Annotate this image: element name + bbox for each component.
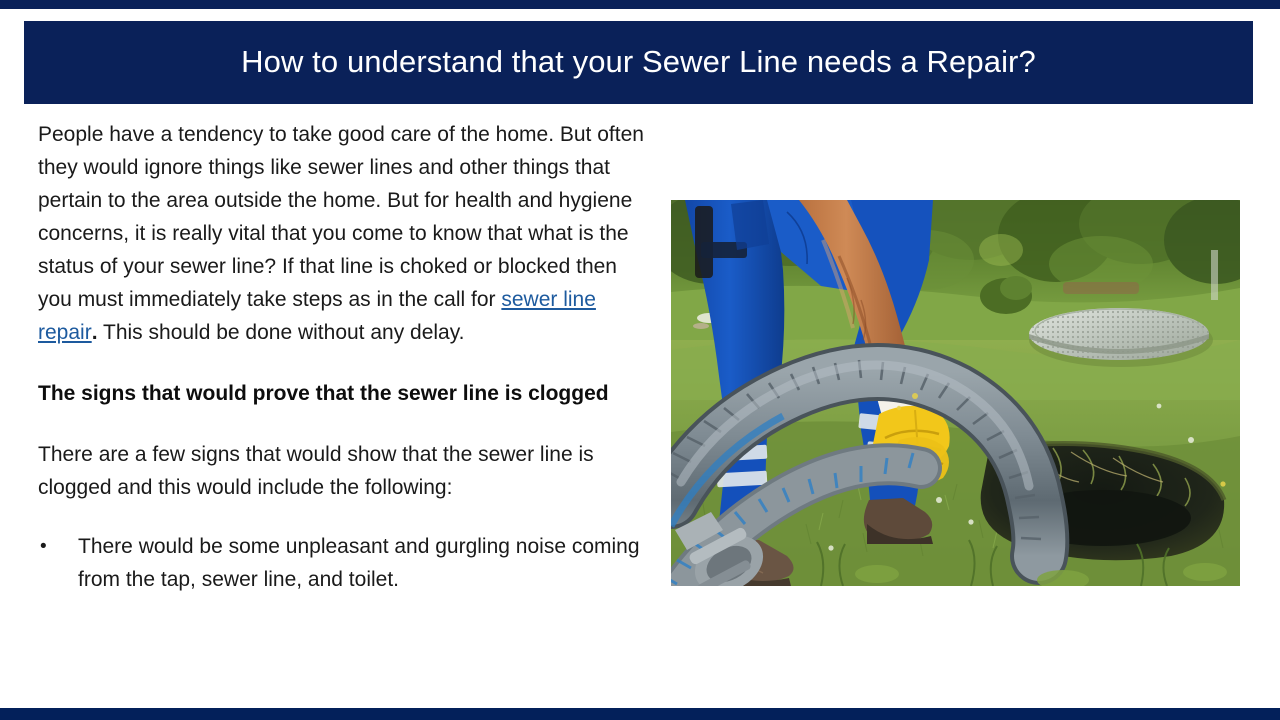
slide-canvas: How to understand that your Sewer Line n…: [0, 0, 1280, 720]
paragraph-intro-text: People have a tendency to take good care…: [38, 123, 644, 311]
paragraph-intro: People have a tendency to take good care…: [38, 118, 652, 349]
bottom-accent-bar: [0, 708, 1280, 720]
title-banner: How to understand that your Sewer Line n…: [24, 21, 1253, 104]
list-item-label: There would be some unpleasant and gurgl…: [78, 530, 652, 596]
list-item: • There would be some unpleasant and gur…: [38, 530, 652, 596]
page-title: How to understand that your Sewer Line n…: [241, 45, 1036, 79]
bullet-marker-icon: •: [38, 530, 78, 563]
spacer-after-intro: [38, 349, 652, 377]
section-heading-signs: The signs that would prove that the sewe…: [38, 377, 652, 410]
paragraph-intro-tail: This should be done without any delay.: [98, 321, 465, 344]
spacer-after-heading: [38, 410, 652, 438]
body-content-column: People have a tendency to take good care…: [38, 118, 652, 596]
spacer-before-bullets: [38, 504, 652, 530]
sewer-cleaning-photo: [671, 200, 1240, 586]
paragraph-signs-lead: There are a few signs that would show th…: [38, 438, 652, 504]
top-accent-bar: [0, 0, 1280, 9]
